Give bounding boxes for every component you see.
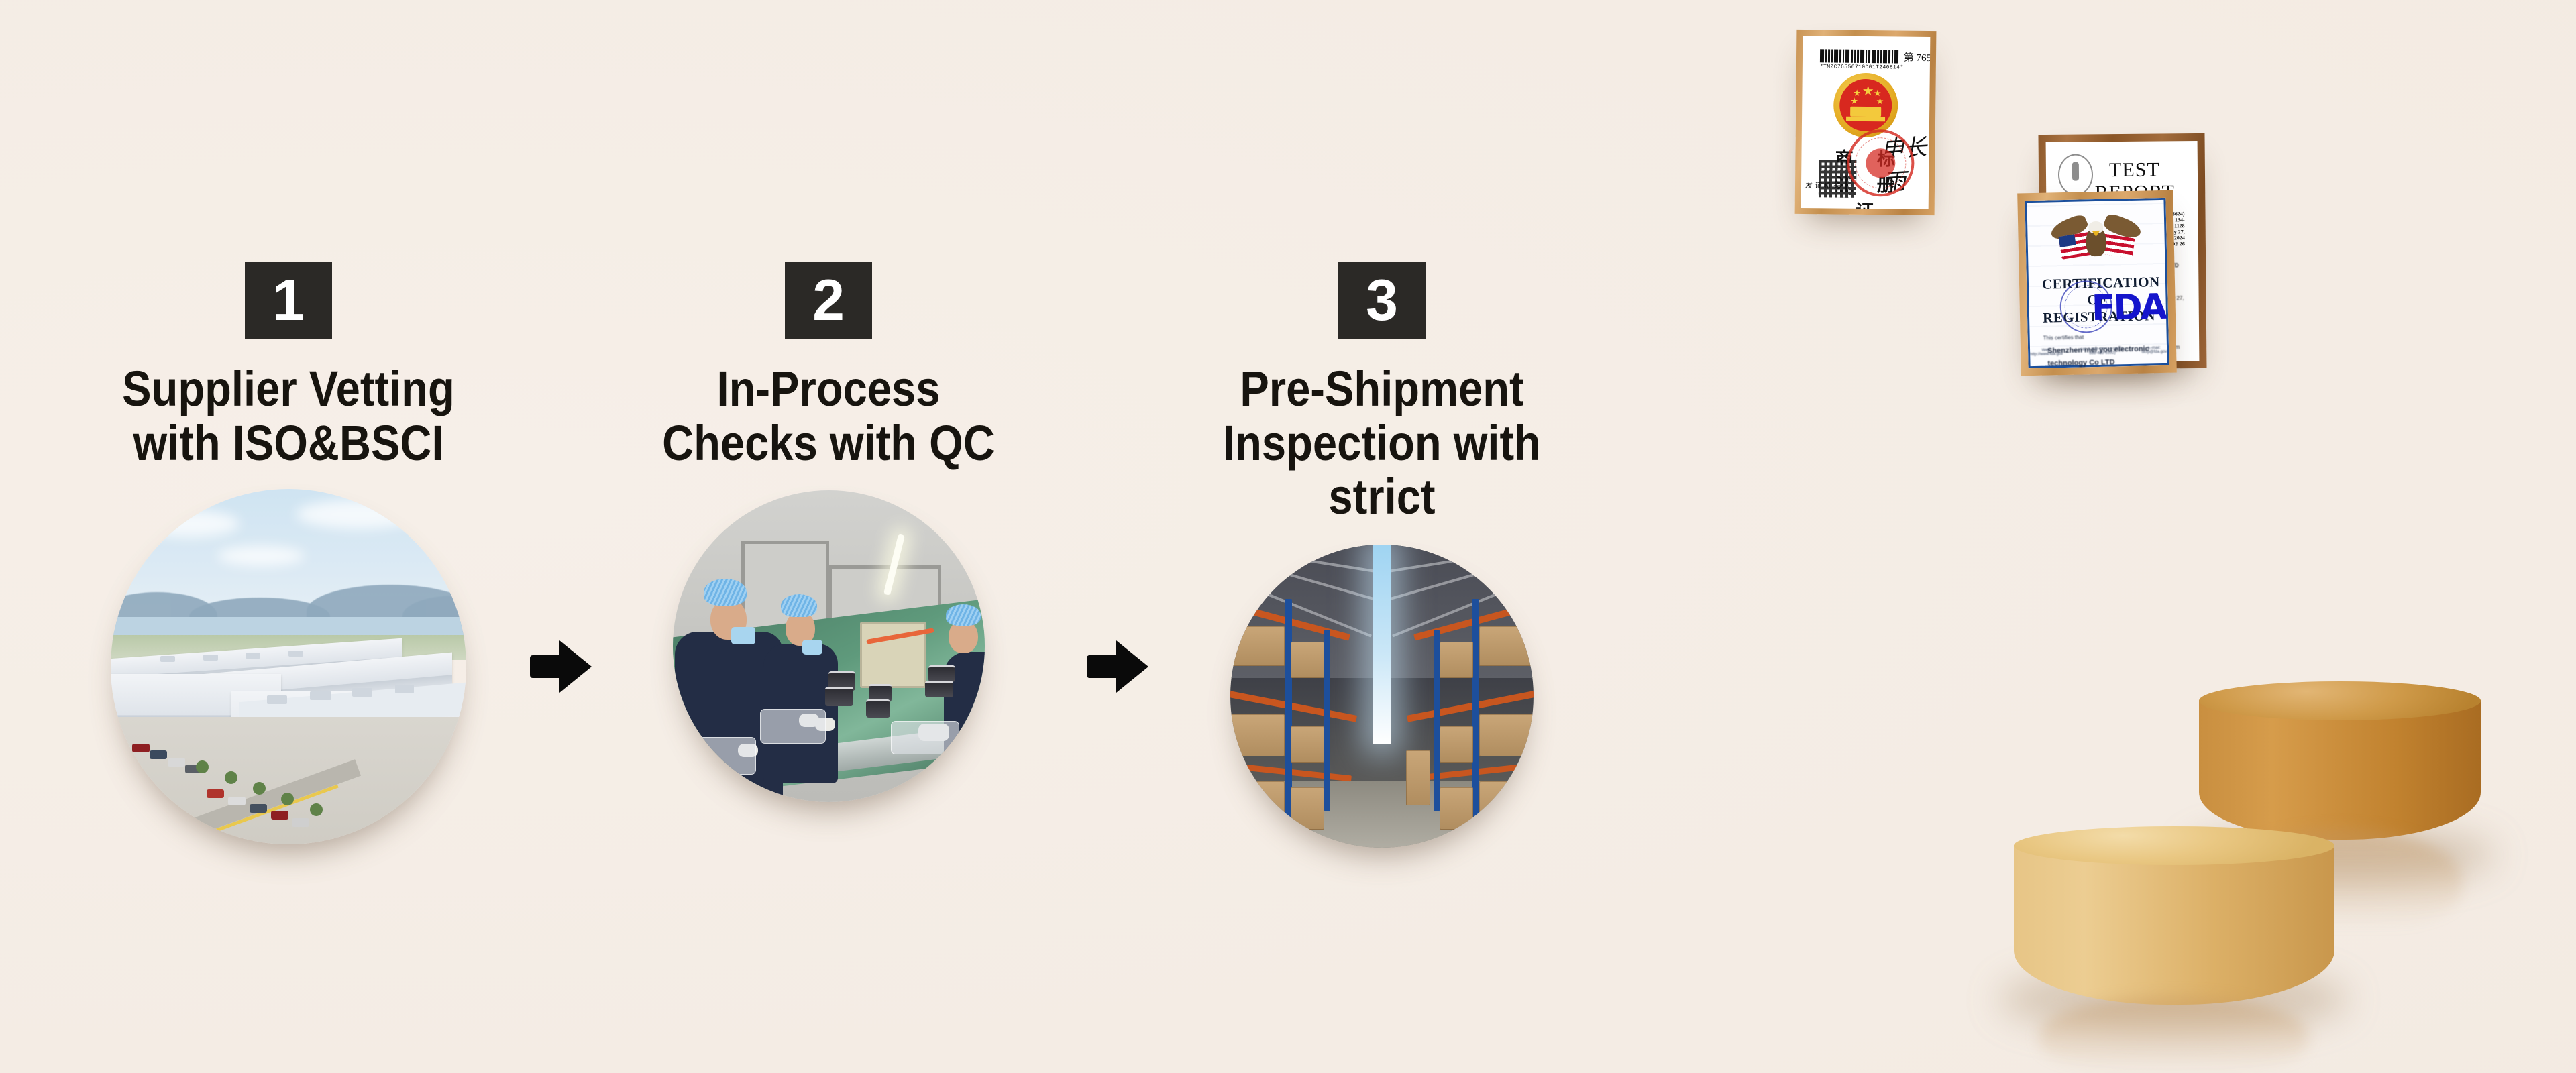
trademark-barcode: *TMZC76556710D01T240814*: [1820, 49, 1904, 70]
factory-aerial-photo: [111, 489, 466, 844]
step-1: 1 Supplier Vetting with ISO&BSCI: [74, 262, 503, 844]
arrow-right-icon-2: [1087, 640, 1150, 693]
front-podium-reflection: [2039, 997, 2308, 1073]
china-national-emblem-icon: ★ ★ ★ ★ ★: [1833, 73, 1898, 138]
certificates-display: *TMZC76556710D01T240814* 第 76556710 号 ★ …: [1597, 0, 2576, 1073]
american-eagle-flag-icon: [2049, 215, 2144, 270]
trademark-barcode-text: *TMZC76556710D01T240814*: [1820, 64, 1904, 70]
fda-certificate: CERTIFICATION OF REGISTRATION This certi…: [2025, 198, 2169, 368]
step-2-title: In-Process Checks with QC: [639, 362, 1017, 470]
step-2-badge: 2: [785, 262, 872, 339]
issuer-label: 发证机关: [1805, 180, 1843, 191]
trademark-certificate: *TMZC76556710D01T240814* 第 76556710 号 ★ …: [1801, 36, 1931, 209]
step-2: 2 In-Process Checks with QC: [614, 262, 1043, 802]
fda-certificate-frame-visible[interactable]: CERTIFICATION OF REGISTRATION This certi…: [2017, 190, 2177, 376]
step-3-badge: 3: [1338, 262, 1426, 339]
step-1-title: Supplier Vetting with ISO&BSCI: [99, 362, 477, 470]
step-3: 3 Pre-Shipment Inspection with strict: [1167, 262, 1597, 848]
fda-logo: FDA: [2091, 287, 2165, 329]
qc-inspection-line-photo: [673, 490, 985, 802]
trademark-number: 第 76556710 号: [1904, 50, 1931, 65]
trademark-certificate-frame[interactable]: *TMZC76556710D01T240814* 第 76556710 号 ★ …: [1795, 30, 1937, 215]
poster-canvas: 1 Supplier Vetting with ISO&BSCI: [0, 0, 2576, 1073]
arrow-right-icon-1: [530, 640, 594, 693]
step-3-title: Pre-Shipment Inspection with strict: [1193, 362, 1570, 524]
back-podium: [2199, 681, 2481, 840]
step-1-badge: 1: [245, 262, 332, 339]
china-trademark-office-seal: [1847, 129, 1915, 197]
warehouse-aisle-photo: [1230, 545, 1534, 848]
process-steps: 1 Supplier Vetting with ISO&BSCI: [0, 0, 1677, 1073]
front-podium: [2014, 826, 2334, 1005]
